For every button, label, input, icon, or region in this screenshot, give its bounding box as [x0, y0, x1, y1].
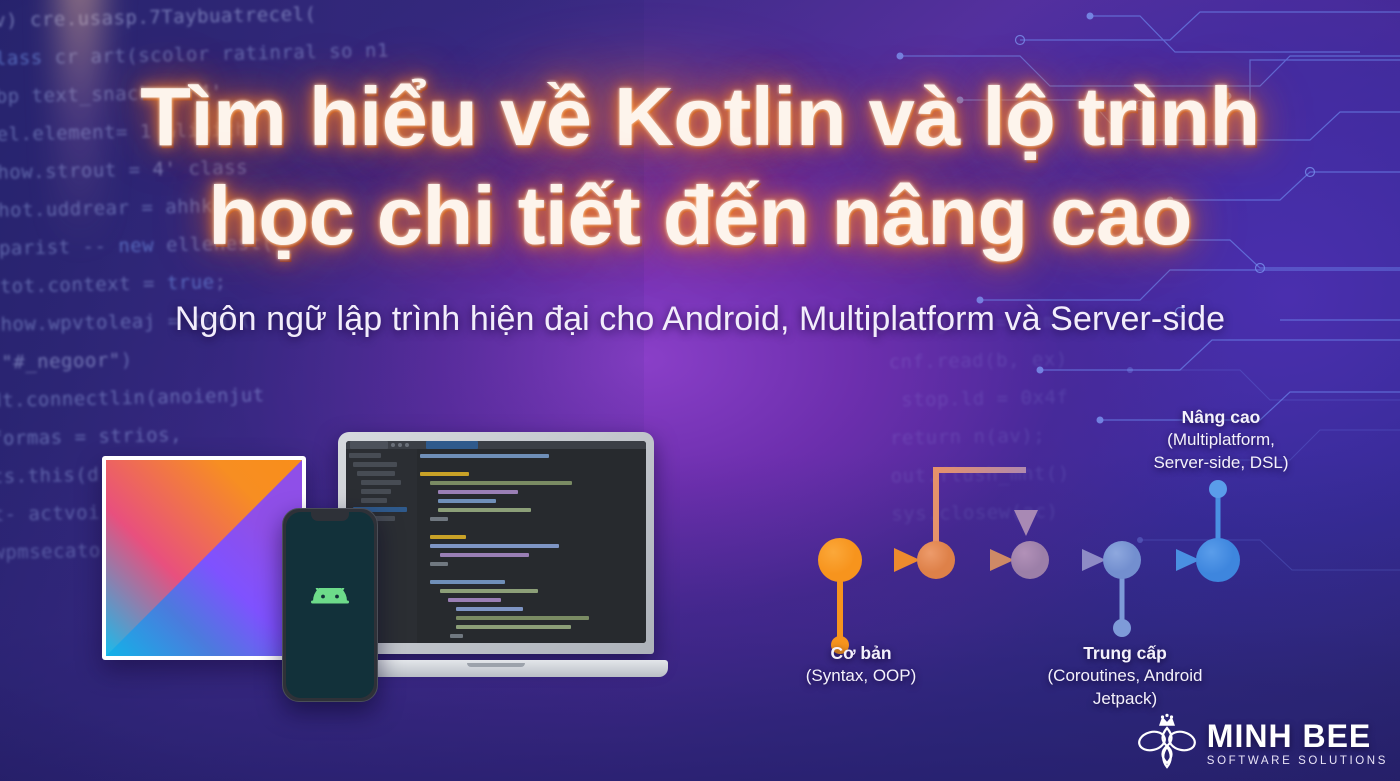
roadmap-label-advanced: Nâng cao (Multiplatform, Server-side, DS… — [1106, 406, 1336, 474]
tree-item — [353, 462, 397, 467]
ide-body — [346, 449, 646, 643]
roadmap-label-advanced-sub2: Server-side, DSL) — [1106, 452, 1336, 475]
roadmap-label-intermediate-sub1: (Coroutines, Android — [1000, 665, 1250, 688]
ide-tab — [350, 441, 388, 449]
banner-stage: av) cre.usasp.7Taybuatrecel( class cr ar… — [0, 0, 1400, 781]
roadmap-node-basic — [818, 538, 862, 582]
laptop-notch — [467, 663, 525, 667]
learning-roadmap-diagram: Nâng cao (Multiplatform, Server-side, DS… — [760, 392, 1380, 722]
tree-item — [361, 480, 401, 485]
laptop-lid — [338, 432, 654, 654]
tree-item — [349, 453, 381, 458]
roadmap-connector-3 — [1048, 549, 1106, 571]
roadmap-connector-2 — [954, 549, 1014, 571]
tree-item — [357, 471, 395, 476]
phone-notch — [311, 512, 349, 521]
brand-text: MINH BEE SOFTWARE SOLUTIONS — [1207, 720, 1388, 768]
ide-debug-icon — [398, 443, 402, 447]
roadmap-node-advanced — [1196, 538, 1240, 582]
page-subtitle: Ngôn ngữ lập trình hiện đại cho Android,… — [0, 300, 1400, 339]
roadmap-node-3 — [1011, 541, 1049, 579]
roadmap-label-intermediate: Trung cấp (Coroutines, Android Jetpack) — [1000, 642, 1250, 710]
tree-item — [361, 489, 391, 494]
title-line-2: học chi tiết đến nâng cao — [0, 173, 1400, 258]
roadmap-node-intermediate — [1103, 541, 1141, 579]
ide-gear-icon — [405, 443, 409, 447]
brand-name: MINH BEE — [1207, 720, 1388, 752]
roadmap-label-basic: Cơ bản (Syntax, OOP) — [766, 642, 956, 688]
roadmap-label-advanced-sub1: (Multiplatform, — [1106, 429, 1336, 452]
smartphone-android — [282, 508, 378, 702]
crowned-bee-icon — [1137, 713, 1197, 775]
page-title: Tìm hiểu về Kotlin và lộ trình học chi t… — [0, 74, 1400, 259]
roadmap-connector-1 — [860, 548, 920, 572]
android-robot-icon — [302, 588, 358, 622]
ide-gutter — [408, 449, 417, 643]
roadmap-label-intermediate-title: Trung cấp — [1000, 642, 1250, 665]
tree-item — [361, 498, 387, 503]
brand-logo: MINH BEE SOFTWARE SOLUTIONS — [1137, 713, 1388, 775]
roadmap-label-basic-sub: (Syntax, OOP) — [766, 665, 956, 688]
ide-toolbar — [346, 441, 646, 449]
ide-code-editor — [408, 449, 646, 643]
roadmap-label-intermediate-sub2: Jetpack) — [1000, 688, 1250, 711]
phone-screen — [286, 512, 374, 698]
kotlin-logo — [102, 456, 306, 660]
roadmap-label-basic-title: Cơ bản — [766, 642, 956, 665]
roadmap-node-2 — [917, 541, 955, 579]
brand-tagline: SOFTWARE SOLUTIONS — [1207, 756, 1388, 768]
roadmap-connector-4 — [1140, 549, 1200, 571]
ide-run-icon — [391, 443, 395, 447]
title-line-1: Tìm hiểu về Kotlin và lộ trình — [0, 74, 1400, 159]
laptop-screen — [346, 441, 646, 643]
ide-active-tab — [426, 441, 478, 449]
kotlin-k-icon — [106, 460, 302, 656]
roadmap-label-advanced-title: Nâng cao — [1106, 406, 1336, 429]
